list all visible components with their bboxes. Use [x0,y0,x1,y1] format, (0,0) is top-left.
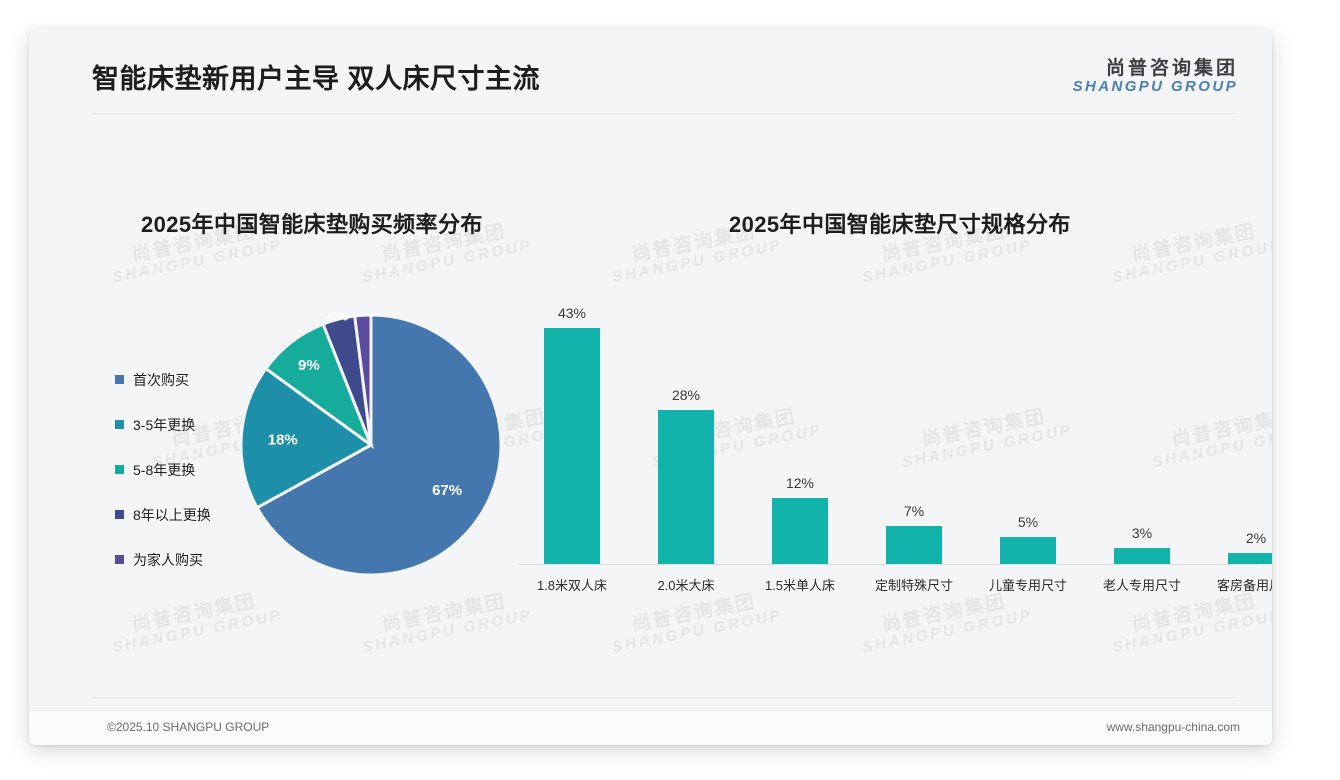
bar-value-label: 28% [629,387,743,403]
bar-category-label: 客房备用尺寸 [1199,575,1272,594]
bar-column[interactable]: 7% [857,503,971,564]
brand-name-en: SHANGPU GROUP [1073,79,1238,96]
legend-item[interactable]: 首次购买 [115,367,243,392]
bar-category-label: 1.8米双人床 [515,575,629,594]
website-link[interactable]: www.shangpu-china.com [1107,720,1240,734]
legend-item[interactable]: 3-5年更换 [115,412,243,437]
bar-chart-panel: 43%28%12%7%5%3%2% 1.8米双人床2.0米大床1.5米单人床定制… [495,277,1255,607]
pie-slice-label: 67% [432,482,462,499]
pie-legend: 首次购买3-5年更换5-8年更换8年以上更换为家人购买 [115,367,243,592]
slide-card: 尚普咨询集团SHANGPU GROUP尚普咨询集团SHANGPU GROUP尚普… [29,29,1272,745]
pie-slice-label: 2% [352,313,374,320]
bar-column[interactable]: 5% [971,514,1085,564]
copyright-text: ©2025.10 SHANGPU GROUP [107,720,269,734]
legend-item[interactable]: 为家人购买 [115,547,243,572]
bar-rect[interactable] [1228,553,1272,564]
bar-rect[interactable] [1000,537,1056,564]
footer-divider [92,697,1237,698]
bar-chart-title: 2025年中国智能床垫尺寸规格分布 [729,207,1071,239]
bar-value-label: 43% [515,305,629,321]
brand-name-cn: 尚普咨询集团 [1073,58,1238,79]
bar-column[interactable]: 43% [515,305,629,564]
bar-rect[interactable] [772,498,828,564]
bar-category-label: 1.5米单人床 [743,575,857,594]
pie-chart-panel: 首次购买3-5年更换5-8年更换8年以上更换为家人购买 67%18%9%4%2% [79,289,519,619]
bar-category-label: 定制特殊尺寸 [857,575,971,594]
bar-column[interactable]: 28% [629,387,743,564]
bar-column[interactable]: 12% [743,475,857,564]
brand-logo: 尚普咨询集团 SHANGPU GROUP [1073,58,1238,96]
bar-rect[interactable] [886,526,942,564]
bar-column[interactable]: 2% [1199,530,1272,564]
bar-plot-area: 43%28%12%7%5%3%2% [495,277,1255,565]
bar-value-label: 5% [971,514,1085,530]
watermark-text: 尚普咨询集团SHANGPU GROUP [1107,218,1272,286]
legend-item[interactable]: 8年以上更换 [115,502,243,527]
bar-category-label: 2.0米大床 [629,575,743,594]
pie-chart: 67%18%9%4%2% [239,313,503,577]
page-title: 智能床垫新用户主导 双人床尺寸主流 [92,57,540,96]
legend-swatch-icon [115,465,124,474]
bar-column[interactable]: 3% [1085,525,1199,564]
bar-rect[interactable] [658,410,714,564]
pie-slice-label: 18% [268,431,298,448]
bar-rect[interactable] [544,328,600,564]
bottom-bar: ©2025.10 SHANGPU GROUP www.shangpu-china… [29,710,1272,745]
bar-value-label: 3% [1085,525,1199,541]
bar-value-label: 12% [743,475,857,491]
legend-swatch-icon [115,510,124,519]
legend-swatch-icon [115,555,124,564]
bar-category-label: 老人专用尺寸 [1085,575,1199,594]
legend-label: 5-8年更换 [133,460,195,480]
bar-rect[interactable] [1114,548,1170,564]
header-divider [92,113,1237,114]
bar-axis-line [519,564,1259,565]
legend-item[interactable]: 5-8年更换 [115,457,243,482]
pie-slice-label: 9% [298,357,320,374]
legend-label: 为家人购买 [133,550,203,570]
legend-swatch-icon [115,420,124,429]
pie-svg: 67%18%9%4%2% [239,313,503,577]
legend-swatch-icon [115,375,124,384]
slide-header: 智能床垫新用户主导 双人床尺寸主流 尚普咨询集团 SHANGPU GROUP [29,29,1272,117]
bar-value-label: 2% [1199,530,1272,546]
pie-slice-label: 4% [327,313,349,324]
legend-label: 8年以上更换 [133,505,211,525]
bar-value-label: 7% [857,503,971,519]
legend-label: 3-5年更换 [133,415,195,435]
legend-label: 首次购买 [133,370,189,390]
pie-chart-title: 2025年中国智能床垫购买频率分布 [141,207,483,239]
bar-category-label: 儿童专用尺寸 [971,575,1085,594]
